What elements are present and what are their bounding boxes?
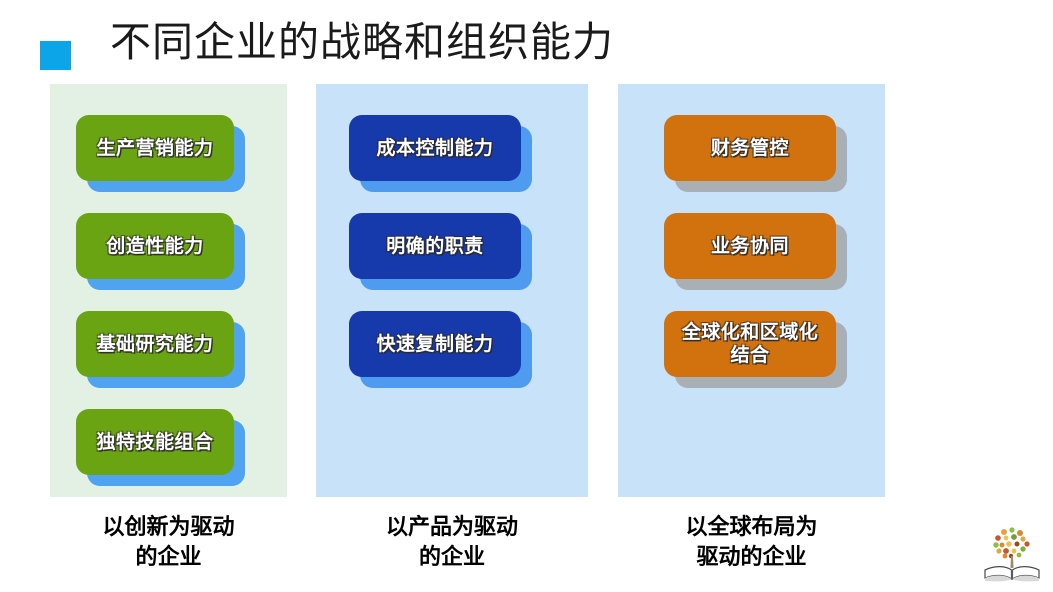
slide-title-row: 不同企业的战略和组织能力 (0, 0, 1053, 84)
capability-box-label: 快速复制能力 (370, 333, 499, 356)
column-panel-innovation-driven: 生产营销能力创造性能力基础研究能力独特技能组合 (50, 84, 287, 497)
caption-line-1: 以全球布局为 (618, 512, 885, 542)
capability-box[interactable]: 全球化和区域化结合 (664, 311, 836, 377)
column-panel-global-footprint-driven: 财务管控业务协同全球化和区域化结合 (618, 84, 885, 497)
capability-box[interactable]: 生产营销能力 (76, 115, 234, 181)
capability-box[interactable]: 快速复制能力 (349, 311, 521, 377)
caption-line-1: 以创新为驱动 (50, 512, 287, 542)
slide-canvas: 不同企业的战略和组织能力 生产营销能力创造性能力基础研究能力独特技能组合 成本控… (0, 0, 1053, 592)
capability-box-label: 独特技能组合 (90, 431, 219, 454)
column-caption-innovation-driven: 以创新为驱动 的企业 (50, 512, 287, 572)
capability-box[interactable]: 财务管控 (664, 115, 836, 181)
capability-box[interactable]: 创造性能力 (76, 213, 234, 279)
capability-box-label: 生产营销能力 (90, 137, 219, 160)
capability-box-label: 业务协同 (705, 235, 795, 258)
capability-box-label: 创造性能力 (100, 235, 210, 258)
column-panel-product-driven: 成本控制能力明确的职责快速复制能力 (316, 84, 588, 497)
capability-box[interactable]: 业务协同 (664, 213, 836, 279)
caption-line-2: 的企业 (50, 542, 287, 572)
caption-line-2: 的企业 (316, 542, 588, 572)
page-title: 不同企业的战略和组织能力 (110, 13, 614, 71)
capability-box[interactable]: 独特技能组合 (76, 409, 234, 475)
capability-box-label-line-1: 全球化和区域化 (682, 321, 819, 344)
column-caption-global-footprint-driven: 以全球布局为 驱动的企业 (618, 512, 885, 572)
tree-book-logo (978, 518, 1046, 586)
capability-box[interactable]: 明确的职责 (349, 213, 521, 279)
capability-box-label: 基础研究能力 (90, 333, 219, 356)
caption-line-1: 以产品为驱动 (316, 512, 588, 542)
capability-box[interactable]: 基础研究能力 (76, 311, 234, 377)
column-caption-product-driven: 以产品为驱动 的企业 (316, 512, 588, 572)
capability-box-label: 财务管控 (705, 137, 795, 160)
title-bullet-square-icon (40, 41, 71, 70)
capability-box-label: 全球化和区域化结合 (676, 321, 825, 367)
capability-box[interactable]: 成本控制能力 (349, 115, 521, 181)
caption-line-2: 驱动的企业 (618, 542, 885, 572)
capability-box-label: 明确的职责 (380, 235, 490, 258)
capability-box-label-line-2: 结合 (682, 344, 819, 367)
capability-box-label: 成本控制能力 (370, 137, 499, 160)
